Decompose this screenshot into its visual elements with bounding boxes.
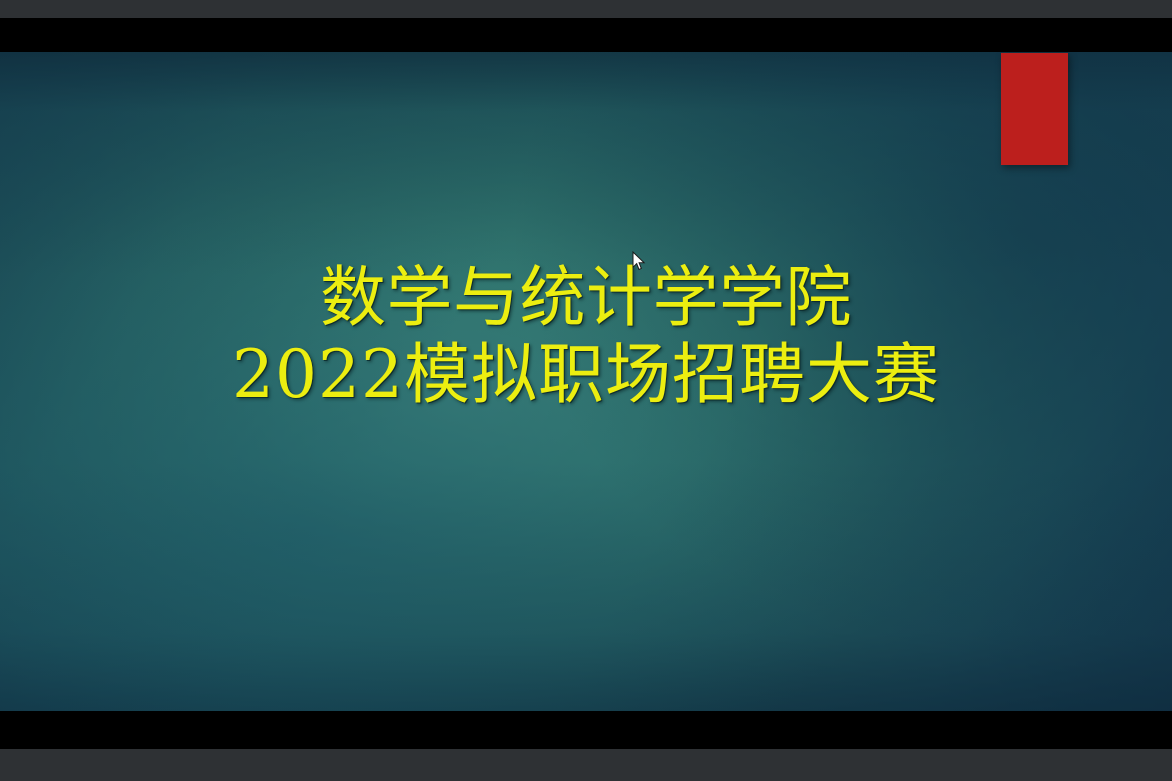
slide-title-line-1: 数学与统计学学院: [0, 260, 1172, 337]
slide-title-line-2: 2022模拟职场招聘大赛: [0, 337, 1172, 414]
slide-title: 数学与统计学学院 2022模拟职场招聘大赛: [0, 260, 1172, 413]
player-chrome-top: [0, 0, 1172, 18]
red-accent-rectangle: [1001, 53, 1068, 165]
presentation-slide: 数学与统计学学院 2022模拟职场招聘大赛: [0, 52, 1172, 712]
player-chrome-bottom: [0, 749, 1172, 781]
letterbox-top: [0, 18, 1172, 53]
letterbox-bottom: [0, 711, 1172, 749]
video-player-screen: 数学与统计学学院 2022模拟职场招聘大赛: [0, 0, 1172, 781]
